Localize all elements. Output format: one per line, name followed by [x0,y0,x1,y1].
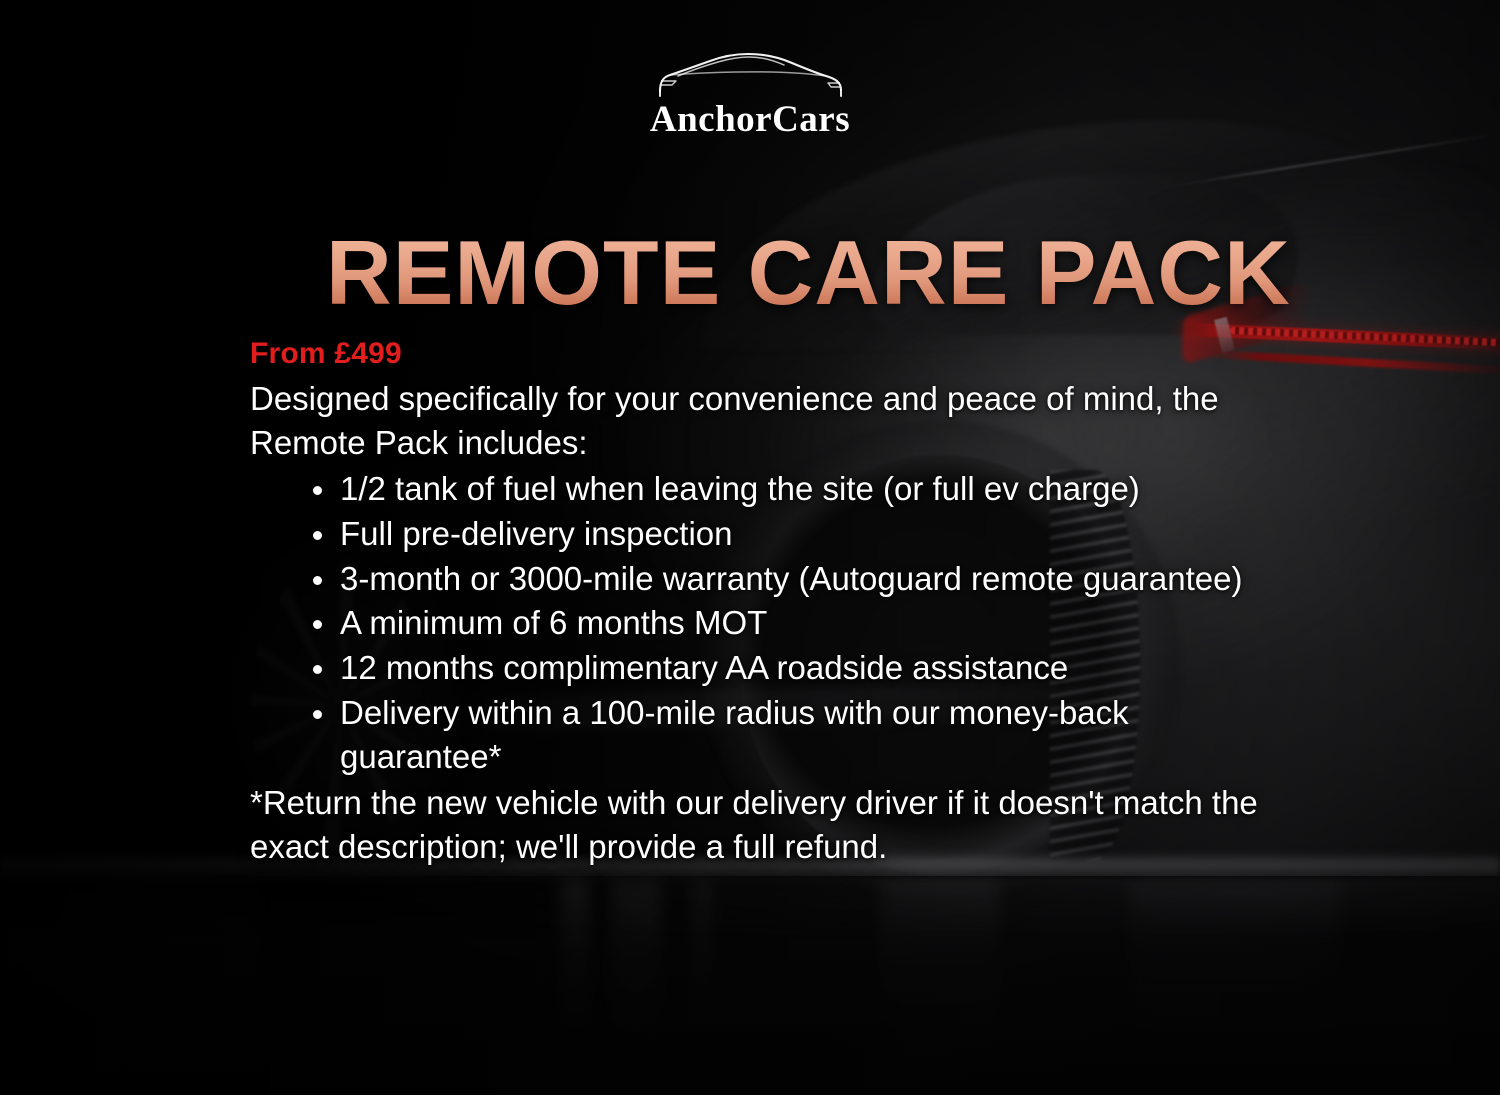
remote-care-pack-poster: AnchorCars REMOTE CARE PACK From £499 De… [0,0,1500,1095]
poster-content: REMOTE CARE PACK From £499 Designed spec… [0,0,1500,1095]
footnote-text: *Return the new vehicle with our deliver… [250,781,1260,869]
list-item: 1/2 tank of fuel when leaving the site (… [313,467,1260,511]
list-item: A minimum of 6 months MOT [313,601,1260,645]
page-title: REMOTE CARE PACK [326,228,1291,319]
copy-block: From £499 Designed specifically for your… [250,337,1260,869]
list-item: Full pre-delivery inspection [313,512,1260,556]
intro-paragraph: Designed specifically for your convenien… [250,377,1260,465]
price-label: From £499 [250,337,1260,371]
list-item: Delivery within a 100-mile radius with o… [313,691,1260,779]
list-item: 3-month or 3000-mile warranty (Autoguard… [313,557,1260,601]
features-list: 1/2 tank of fuel when leaving the site (… [250,467,1260,779]
list-item: 12 months complimentary AA roadside assi… [313,646,1260,690]
